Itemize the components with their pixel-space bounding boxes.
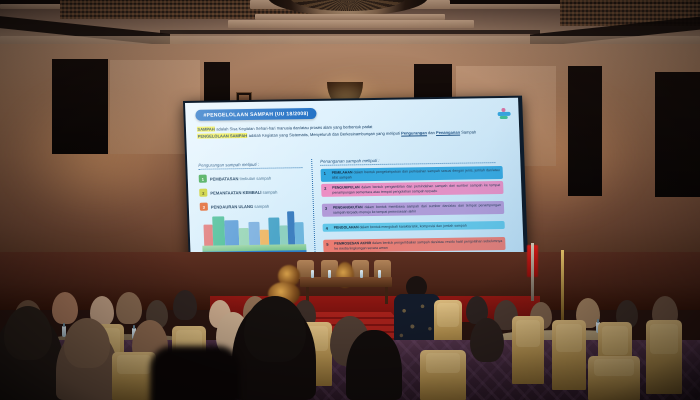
list-item: 3 PENGANGKUTAN dalam bentuk membawa samp… — [322, 201, 504, 217]
item-number-badge: 2 — [199, 189, 207, 197]
flag-pole — [531, 243, 534, 301]
water-bottle — [311, 270, 314, 278]
item-title: PEMROSESAN AKHIR — [334, 241, 371, 246]
slide-definition-paragraph: SAMPAH adalah Sisa Kegiatan Sehari-hari … — [197, 122, 498, 140]
item-number: 5 — [326, 241, 331, 251]
head-table — [300, 277, 392, 287]
item-suffix: sampah — [261, 189, 277, 194]
water-bottle — [378, 270, 381, 278]
list-item: 1 PEMBATASAN timbulan sampah — [199, 172, 307, 184]
banquet-chair — [420, 350, 466, 400]
term-pengelolaan-sampah: PENGELOLAAN SAMPAH — [197, 133, 248, 139]
water-bottle — [328, 270, 331, 278]
item-title: PENGOLAHAN — [334, 225, 359, 229]
wall-panel-dark — [655, 72, 700, 197]
definition-text-3: Sampah — [460, 129, 476, 134]
foreground-audience-member — [346, 330, 402, 400]
term-sampah: SAMPAH — [197, 127, 215, 132]
foreground-audience-member — [64, 318, 110, 368]
list-item: 4 PENGOLAHAN dalam bentuk mengubah karak… — [323, 221, 505, 232]
item-title: PENGANGKUTAN — [333, 205, 363, 209]
item-suffix: timbulan sampah — [238, 175, 271, 181]
item-title: PEMILAHAN — [332, 170, 353, 174]
link-pengurangan: Pengurangan — [401, 130, 427, 135]
column-divider — [311, 159, 316, 264]
foreground-shadow — [150, 346, 240, 400]
banquet-chair — [512, 316, 544, 384]
list-item: 5 PEMROSESAN AKHIR dalam bentuk pengemba… — [323, 237, 505, 253]
presentation-slide: #PENGELOLAAN SAMPAH (UU 18/2008) SAMPAH … — [185, 98, 524, 275]
item-title: PEMBATASAN — [210, 176, 239, 181]
banquet-chair — [588, 356, 640, 400]
foreground-audience-member — [4, 306, 52, 360]
item-title: PENGUMPULAN — [332, 185, 360, 189]
item-number: 2 — [324, 185, 329, 195]
banquet-chair — [552, 320, 586, 390]
item-title: PEMANFAATAN KEMBALI — [210, 189, 261, 195]
left-column-heading: Pengurangan sampah meliputi : — [198, 161, 302, 170]
audience-member — [116, 292, 142, 324]
item-number: 1 — [324, 170, 329, 180]
conjunction: dan — [427, 130, 436, 135]
list-item: 2 PEMANFAATAN KEMBALI sampah — [199, 186, 307, 198]
water-bottle — [360, 270, 363, 278]
gold-trim-strip — [561, 250, 564, 320]
item-number-badge: 1 — [199, 175, 207, 183]
ballroom-scene: #PENGELOLAAN SAMPAH (UU 18/2008) SAMPAH … — [0, 0, 700, 400]
wall-panel-dark — [52, 59, 108, 154]
audience-member — [173, 290, 197, 320]
ceiling — [0, 0, 700, 48]
city-skyline-illustration — [201, 205, 307, 259]
item-text: dalam bentuk mengubah karakteristik, kom… — [358, 223, 466, 229]
audience-member — [470, 318, 504, 362]
audience-member — [52, 292, 78, 324]
banquet-chair — [646, 320, 682, 394]
item-number: 3 — [325, 205, 330, 215]
table-leg — [385, 287, 388, 304]
slide-title: #PENGELOLAAN SAMPAH (UU 18/2008) — [195, 108, 316, 121]
link-penanganan: Penanganan — [436, 129, 460, 134]
right-column-heading: Penanganan sampah meliputi : — [320, 156, 495, 166]
recycle-logo — [497, 108, 510, 120]
item-number: 4 — [326, 225, 331, 230]
definition-text-2: adalah Kegiatan yang Sistematis, Menyelu… — [248, 130, 402, 137]
list-item: 2 PENGUMPULAN dalam bentuk pengambilan d… — [321, 181, 503, 197]
list-item: 1 PEMILAHAN dalam bentuk pengelompokan d… — [321, 166, 503, 182]
wall-panel-dark — [568, 66, 602, 196]
item-text: dalam bentuk pengelompokan dan pemisahan… — [332, 168, 500, 180]
